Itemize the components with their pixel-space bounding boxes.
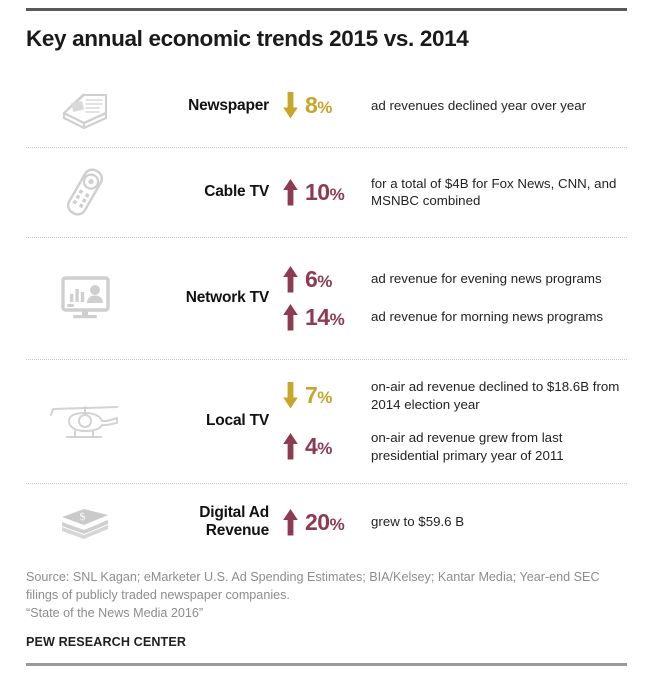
media-label: Newspaper [144, 97, 275, 115]
stat-line: 14% ad revenue for morning news programs [275, 304, 627, 331]
arrow-up-icon [283, 433, 298, 460]
stat-line: 7% on-air ad revenue declined to $18.6B … [275, 378, 627, 413]
stat-figure: 10% [275, 179, 371, 206]
row-stats-cell: 6% ad revenue for evening news programs … [275, 266, 627, 331]
newspaper-stack-icon [54, 83, 116, 129]
row-stats-cell: 8% ad revenues declined year over year [275, 92, 627, 119]
stat-description: ad revenue for evening news programs [371, 270, 627, 288]
stat-percent: 14% [305, 306, 344, 329]
infographic-root: Key annual economic trends 2015 vs. 2014 [0, 8, 653, 682]
stat-figure: 8% [275, 92, 371, 119]
row-icon-cell [26, 396, 144, 446]
stat-percent: 4% [305, 435, 332, 458]
stat-description: for a total of $4B for Fox News, CNN, an… [371, 175, 627, 210]
arrow-up-icon [283, 304, 298, 331]
stat-percent: 7% [305, 384, 332, 407]
stat-percent: 8% [305, 94, 332, 117]
study-note: “State of the News Media 2016” [26, 605, 627, 623]
stat-description: on-air ad revenue grew from last preside… [371, 429, 627, 464]
row-stats-cell: 7% on-air ad revenue declined to $18.6B … [275, 378, 627, 465]
row-icon-cell: $ [26, 501, 144, 543]
arrow-up-icon [283, 509, 298, 536]
tv-remote-icon [57, 163, 113, 221]
bottom-rule [26, 663, 627, 666]
tv-monitor-news-icon [54, 272, 116, 324]
stat-line: 6% ad revenue for evening news programs [275, 266, 627, 293]
page-title: Key annual economic trends 2015 vs. 2014 [26, 11, 627, 65]
stat-line: 20% grew to $59.6 B [275, 509, 627, 536]
table-row: Newspaper 8% ad revenues declined year o… [26, 65, 627, 147]
stat-figure: 20% [275, 509, 371, 536]
arrow-up-icon [283, 179, 298, 206]
footer: Source: SNL Kagan; eMarketer U.S. Ad Spe… [26, 561, 627, 650]
stat-percent: 10% [305, 181, 344, 204]
stat-description: grew to $59.6 B [371, 513, 627, 531]
row-stats-cell: 10% for a total of $4B for Fox News, CNN… [275, 175, 627, 210]
media-label: Network TV [144, 289, 275, 307]
table-row: Network TV 6% ad revenue for evening new… [26, 237, 627, 359]
arrow-down-icon [283, 382, 298, 409]
stat-figure: 14% [275, 304, 371, 331]
media-rows-list: Newspaper 8% ad revenues declined year o… [26, 65, 627, 561]
row-icon-cell [26, 163, 144, 221]
stat-figure: 4% [275, 433, 371, 460]
row-stats-cell: 20% grew to $59.6 B [275, 509, 627, 536]
stat-figure: 7% [275, 382, 371, 409]
source-note: Source: SNL Kagan; eMarketer U.S. Ad Spe… [26, 569, 627, 605]
table-row: Local TV 7% on-air ad revenue declined t… [26, 359, 627, 483]
table-row: $ Digital Ad Revenue 20% grew to $59.6 B [26, 483, 627, 561]
media-label: Cable TV [144, 183, 275, 201]
stat-figure: 6% [275, 266, 371, 293]
arrow-down-icon [283, 92, 298, 119]
media-label: Local TV [144, 412, 275, 430]
stat-percent: 6% [305, 268, 332, 291]
stat-description: ad revenues declined year over year [371, 97, 627, 115]
row-icon-cell [26, 272, 144, 324]
stat-description: on-air ad revenue declined to $18.6B fro… [371, 378, 627, 413]
stat-percent: 20% [305, 511, 344, 534]
money-stack-icon: $ [52, 501, 118, 543]
media-label: Digital Ad Revenue [144, 504, 275, 541]
row-icon-cell [26, 83, 144, 129]
stat-line: 8% ad revenues declined year over year [275, 92, 627, 119]
stat-description: ad revenue for morning news programs [371, 308, 627, 326]
helicopter-icon [45, 396, 125, 446]
stat-line: 4% on-air ad revenue grew from last pres… [275, 429, 627, 464]
table-row: Cable TV 10% for a total of $4B for Fox … [26, 147, 627, 237]
pew-research-center-attribution: PEW RESEARCH CENTER [26, 622, 627, 649]
stat-line: 10% for a total of $4B for Fox News, CNN… [275, 175, 627, 210]
arrow-up-icon [283, 266, 298, 293]
